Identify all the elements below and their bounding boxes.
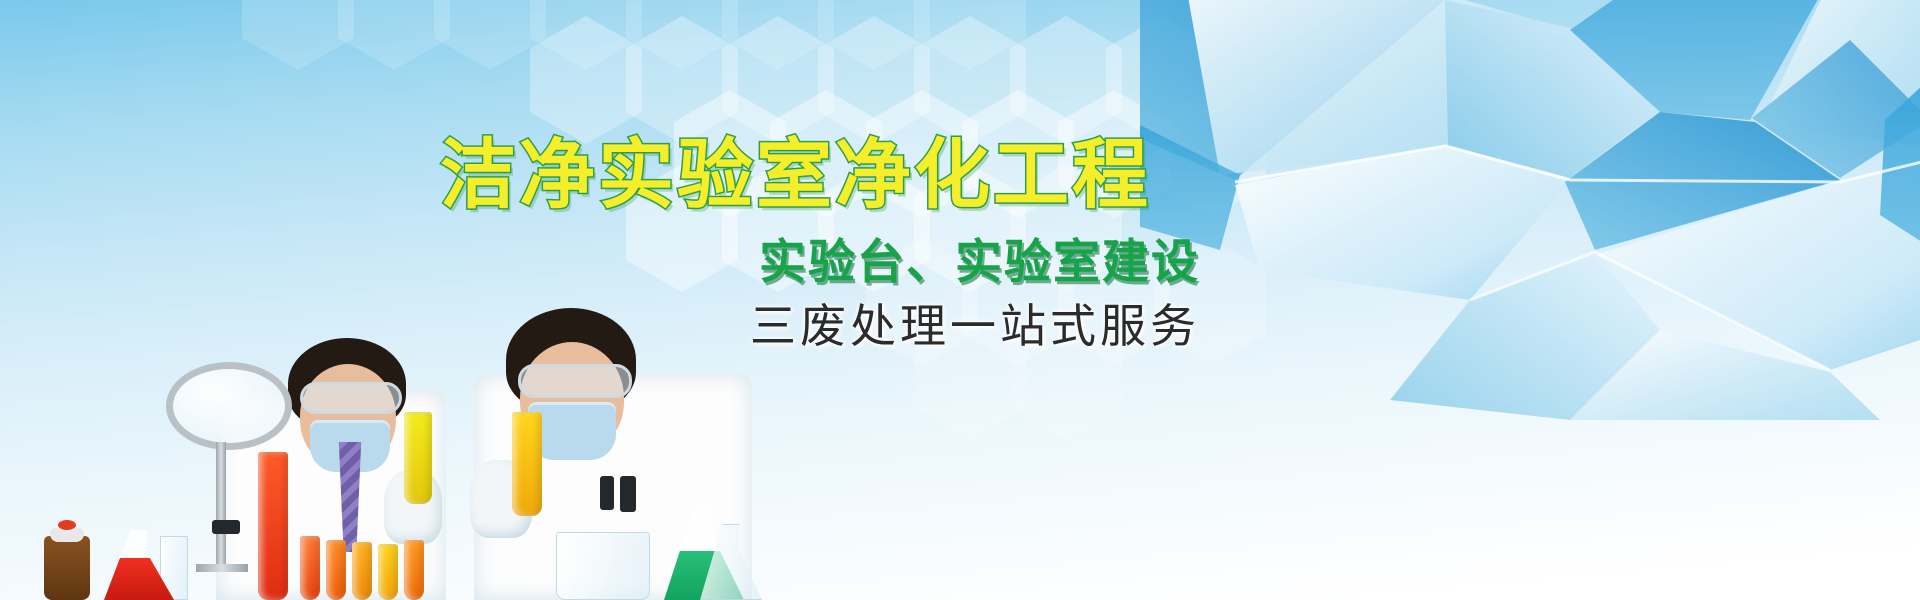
banner-root: 洁净实验室净化工程 实验台、实验室建设 三废处理一站式服务 [0, 0, 1920, 600]
reagent-bottle [44, 536, 90, 600]
tagline-text: 三废处理一站式服务 [440, 303, 1200, 349]
headline-text-block: 洁净实验室净化工程 实验台、实验室建设 三废处理一站式服务 [440, 138, 1200, 349]
yellow-test-tube-right [512, 412, 542, 516]
page-title: 洁净实验室净化工程 [440, 138, 1200, 214]
faceted-crystal-polygons [1140, 0, 1920, 420]
beaker [556, 532, 650, 600]
yellow-test-tube-left [404, 412, 432, 504]
reagent-bottle-stopper [58, 520, 76, 530]
subheadline-text: 实验台、实验室建设 [440, 238, 1200, 285]
reagent-bottle-cap [50, 528, 84, 542]
